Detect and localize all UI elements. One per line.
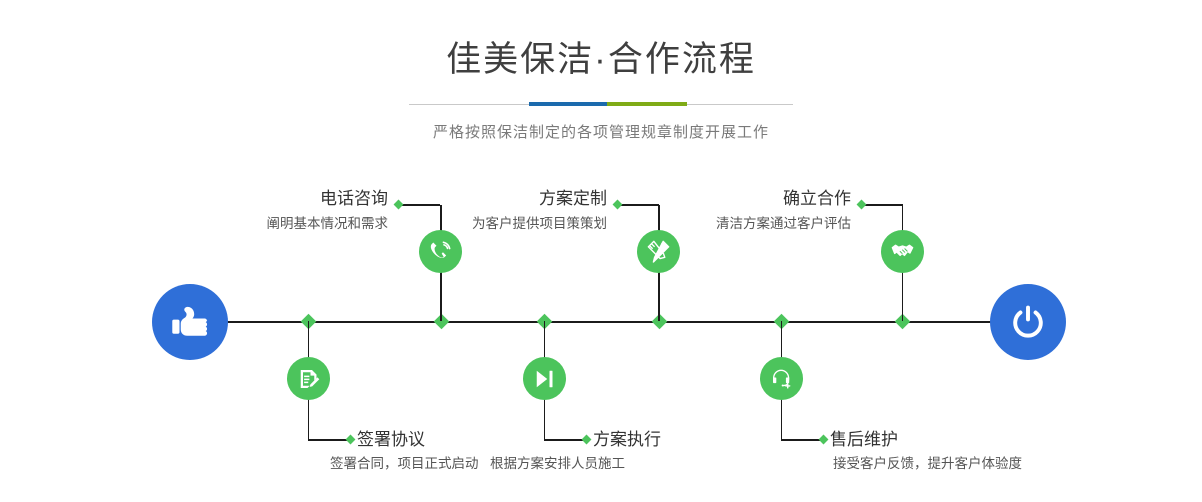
step-desc-1: 阐明基本情况和需求 <box>135 217 388 231</box>
timeline-start-endpoint <box>152 284 228 360</box>
lead-dot-5 <box>857 200 867 210</box>
play-skip-icon <box>523 357 566 400</box>
lead-line-4 <box>544 439 586 441</box>
step-desc-3: 为客户提供项目策策划 <box>354 217 607 231</box>
lead-dot-4 <box>582 435 592 445</box>
handshake-icon <box>881 230 924 273</box>
step-title-4: 方案执行 <box>593 431 661 448</box>
phone-call-icon <box>419 230 462 273</box>
support-agent-add-icon <box>760 357 803 400</box>
step-title-3: 方案定制 <box>354 190 607 207</box>
step-title-6: 售后维护 <box>830 431 898 448</box>
power-icon <box>1007 301 1049 343</box>
page-subtitle: 严格按照保洁制定的各项管理规章制度开展工作 <box>0 121 1202 142</box>
document-edit-icon <box>287 357 330 400</box>
title-divider <box>409 99 793 111</box>
step-desc-6: 接受客户反馈，提升客户体验度 <box>833 457 1022 471</box>
step-title-1: 电话咨询 <box>135 190 388 207</box>
header: 佳美保洁·合作流程 严格按照保洁制定的各项管理规章制度开展工作 <box>0 0 1202 142</box>
pencil-ruler-icon <box>637 230 680 273</box>
step-title-2: 签署协议 <box>357 431 425 448</box>
lead-line-5 <box>861 204 903 206</box>
step-title-5: 确立合作 <box>598 190 851 207</box>
pointing-hand-icon <box>169 301 211 343</box>
step-desc-2: 签署合同，项目正式启动 <box>330 457 479 471</box>
step-desc-5: 清洁方案通过客户评估 <box>598 217 851 231</box>
lead-dot-6 <box>819 435 829 445</box>
page-title: 佳美保洁·合作流程 <box>0 0 1202 77</box>
divider-green-segment <box>607 102 687 106</box>
timeline-end-endpoint <box>990 284 1066 360</box>
step-desc-4: 根据方案安排人员施工 <box>490 457 625 471</box>
lead-line-2 <box>308 439 350 441</box>
divider-blue-segment <box>529 102 607 106</box>
lead-line-6 <box>781 439 823 441</box>
process-flow-infographic: 佳美保洁·合作流程 严格按照保洁制定的各项管理规章制度开展工作 <box>0 0 1202 502</box>
lead-dot-2 <box>346 435 356 445</box>
